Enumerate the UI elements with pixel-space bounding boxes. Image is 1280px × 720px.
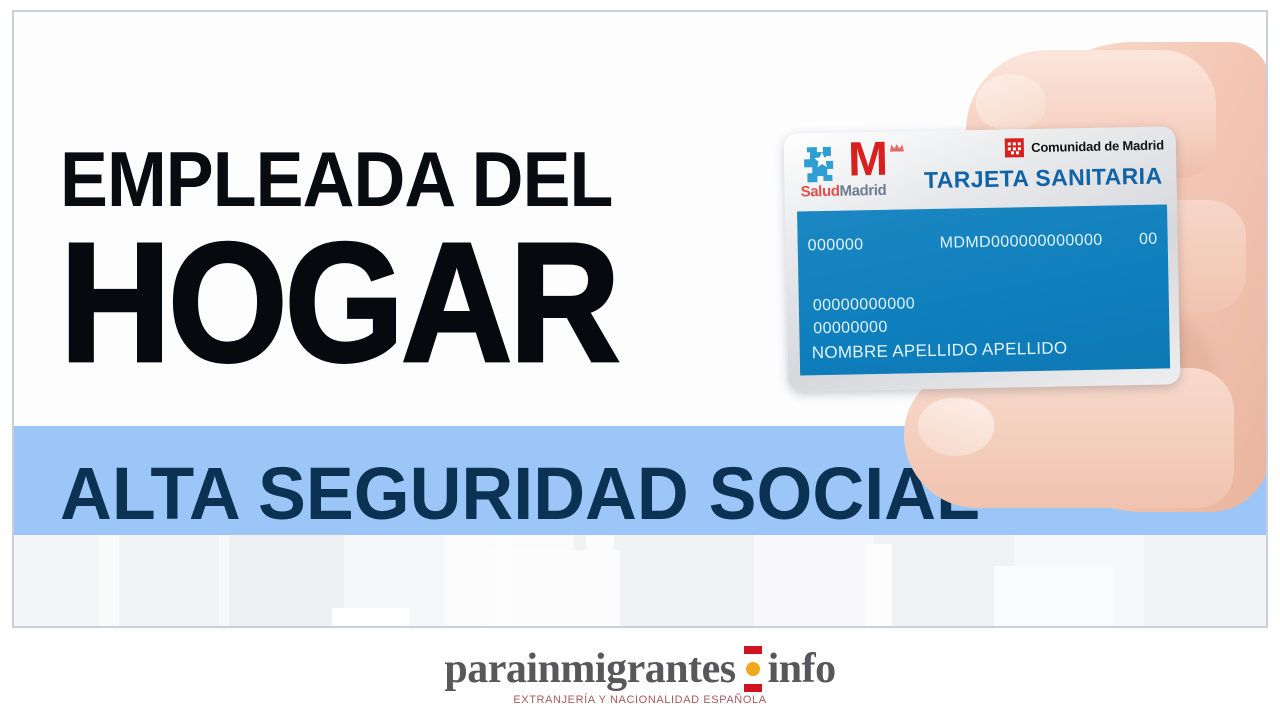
saludmadrid-wordmark: SaludMadrid [801, 182, 887, 201]
crown-icon [890, 143, 908, 151]
slide-canvas: EMPLEADA DEL HOGAR ALTA SEGURIDAD SOCIAL [0, 0, 1280, 720]
comunidad-de-madrid-badge: Comunidad de Madrid [1005, 135, 1164, 157]
saludmadrid-emblem-icon [800, 143, 847, 184]
spanish-flag-icon [742, 646, 764, 692]
card-title: TARJETA SANITARIA [924, 163, 1163, 195]
card-code-line-2: 00000000 [813, 316, 916, 341]
logo-main-word: parainmigrantes [444, 648, 735, 690]
madrid-coat-of-arms-icon [1005, 138, 1024, 157]
card-data-panel: 000000 MDMD000000000000 00 00000000000 0… [797, 204, 1170, 375]
parainmigrantes-logo[interactable]: parainmigrantes info [444, 646, 835, 692]
building-shape [994, 566, 1114, 626]
health-card: M SaludMadrid [784, 126, 1181, 391]
artwork-frame: EMPLEADA DEL HOGAR ALTA SEGURIDAD SOCIAL [12, 10, 1268, 628]
issuer-label: Comunidad de Madrid [1031, 137, 1164, 155]
card-holder-name: NOMBRE APELLIDO APELLIDO [812, 338, 1068, 363]
building-shape [586, 534, 614, 626]
headline-line-1: EMPLEADA DEL [60, 144, 612, 216]
card-number-left: 000000 [808, 235, 940, 256]
fingernail-shape [976, 74, 1046, 130]
card-code-block: 00000000000 00000000 [813, 293, 916, 340]
headline-line-2: HOGAR [60, 224, 636, 380]
card-code-line-1: 00000000000 [813, 293, 916, 318]
building-shape [496, 530, 512, 626]
card-monogram: M [848, 136, 887, 185]
thumbnail-shape [918, 398, 994, 456]
card-number-right: 00 [1123, 231, 1157, 250]
logo-tld-word: info [768, 648, 836, 690]
flag-dot [746, 662, 760, 676]
flag-bar-bottom [744, 684, 762, 692]
flag-bar-top [744, 646, 762, 654]
footer-tagline: EXTRANJERÍA Y NACIONALIDAD ESPAÑOLA [513, 694, 766, 706]
card-header: M SaludMadrid [784, 126, 1177, 206]
building-shape [332, 608, 410, 626]
card-number-row: 000000 MDMD000000000000 00 [808, 231, 1158, 256]
saludmadrid-logo: M SaludMadrid [798, 139, 927, 203]
brand-salud: Salud [801, 183, 840, 201]
hand-holding-card-photo: M SaludMadrid [704, 12, 1268, 572]
headline-block: EMPLEADA DEL HOGAR [60, 144, 660, 371]
site-footer: parainmigrantes info EXTRANJERÍA Y NACIO… [0, 632, 1280, 720]
card-number-center: MDMD000000000000 [940, 231, 1124, 253]
brand-madrid: Madrid [839, 182, 886, 200]
